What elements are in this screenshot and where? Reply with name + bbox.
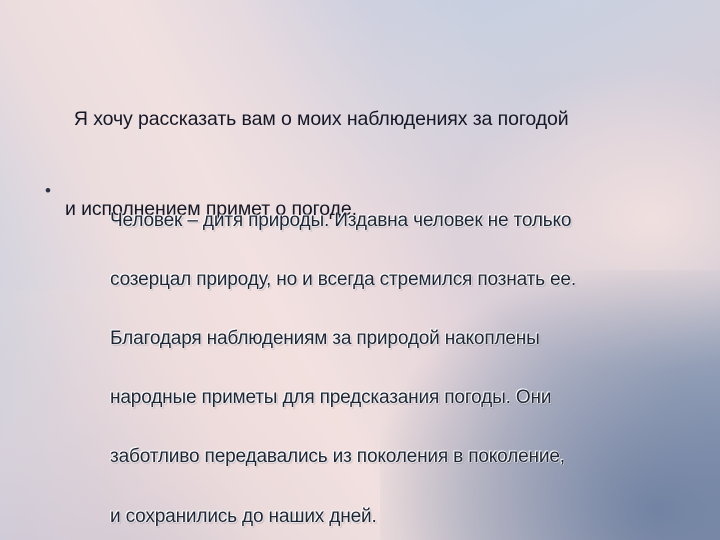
intro-line-1: Я хочу рассказать вам о моих наблюдениях… [74,108,569,130]
bullet-line-1: Человек – дитя природы. Издавна человек … [110,210,571,231]
bullet-paragraph-text: Человек – дитя природы. Издавна человек … [69,176,642,540]
bullet-line-5: заботливо передавались из поколения в по… [110,446,565,467]
bullet-line-3: Благодаря наблюдениям за природой накопл… [110,328,540,349]
bullet-paragraph: • Человек – дитя природы. Издавна челове… [42,176,642,540]
bullet-line-6: и сохранились до наших дней. [110,506,377,527]
bullet-point-icon: • [42,176,69,206]
bullet-line-2: созерцал природу, но и всегда стремился … [110,269,576,290]
bullet-line-4: народные приметы для предсказания погоды… [110,387,551,408]
slide-content: Я хочу рассказать вам о моих наблюдениях… [0,0,720,540]
presentation-slide: Я хочу рассказать вам о моих наблюдениях… [0,0,720,540]
